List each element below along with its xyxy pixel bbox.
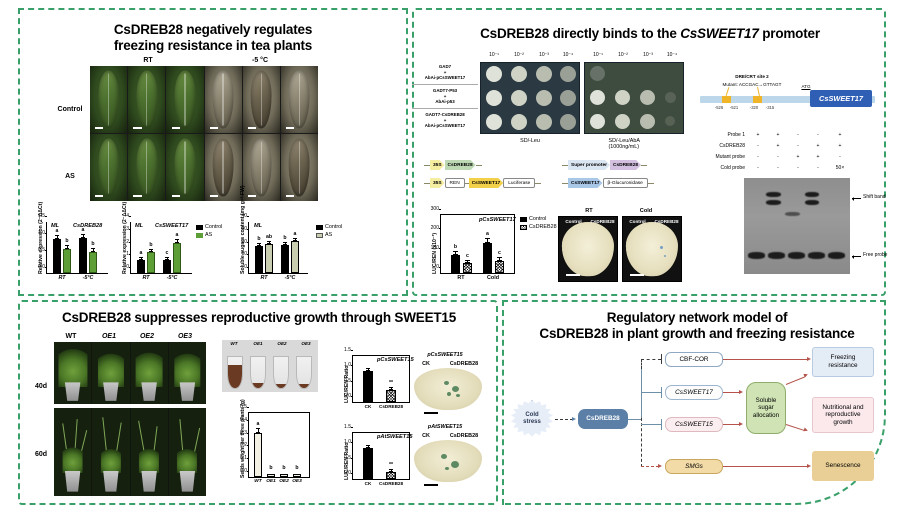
construct-promoter-35s: 35S [430, 178, 445, 188]
inhibition-bar-sweet15 [661, 419, 662, 430]
leaf-photo [205, 134, 242, 201]
photo-row-label-as: AS [52, 172, 88, 181]
error-bar [93, 248, 94, 252]
error-bar [151, 249, 152, 252]
emsa-value: - [817, 165, 819, 171]
seed-xtick: OE3 [292, 479, 302, 484]
legend-label: Control [205, 224, 222, 230]
emsa-value: - [817, 132, 819, 138]
leaf-photo [243, 134, 280, 201]
plant-col-label-oe3: OE3 [170, 332, 200, 341]
seed-xtick: OE2 [279, 479, 289, 484]
emsa-assay: Probe 1 + + - - + CsDREB28 - + - + + Mut… [748, 132, 853, 277]
error-bar [368, 368, 369, 371]
leaf-photo [90, 66, 127, 133]
plant-photo [54, 408, 91, 496]
promoter-leader [726, 87, 730, 96]
bar [363, 371, 373, 402]
yeast-one-hybrid-assay: 10⁻¹ 10⁻² 10⁻³ 10⁻⁴ 10⁻¹ 10⁻² 10⁻³ 10⁻⁴ … [480, 62, 685, 152]
legend-entry: AS [316, 232, 342, 238]
seed-ytick: 0.0 [240, 468, 247, 474]
p3luc1-annotation: pCsSWEET15 [377, 357, 414, 363]
construct-reporter-right: CsSWEET17 β-Glucuronidase [562, 178, 654, 188]
emsa-band-shift [785, 212, 800, 216]
node-cssweet17: CsSWEET17 [665, 385, 723, 400]
tube-label: OE2 [270, 341, 294, 346]
plant-photo [92, 408, 129, 496]
chart-relative-expression-csdreb28: Relative expression (2⁻ΔΔCt) 0.0 0.5 1.0… [46, 222, 108, 274]
chart-luc-ren-cssweet17: LUC/REN (x10⁻³) 0 100 200 300 pCsSWEET17… [440, 214, 515, 274]
y1h-row-label-p53: GADT7-P53 + AbAi-p53 [413, 88, 477, 105]
sig-label: ab [266, 234, 272, 240]
leaf-photo [205, 66, 242, 133]
y1h-colony [486, 90, 502, 106]
bar [495, 261, 504, 273]
construct-promoter-35s: 35S [430, 160, 445, 170]
y1h-dilution-label: 10⁻³ [539, 52, 549, 58]
emsa-value: 50× [836, 165, 844, 171]
emsa-row-label: Cold probe [721, 165, 745, 171]
plant-row-label-60d: 60d [30, 450, 52, 459]
luc-chart-legend: Control CsDREB28 [520, 216, 557, 232]
luc-chart-plot: 0 100 200 300 pCsSWEET17 b c a c RT Cold [440, 214, 515, 274]
emsa-value: + [777, 143, 780, 149]
y1h-colony [665, 116, 675, 126]
bar [280, 474, 288, 477]
emsa-value: + [817, 143, 820, 149]
error-bar [259, 243, 260, 246]
node-cold-stress: Cold stress [510, 400, 554, 438]
bar [173, 243, 181, 273]
emsa-value: + [839, 143, 842, 149]
y1h-colony [486, 66, 502, 82]
panel-3-title: CsDREB28 suppresses reproductive growth … [44, 310, 474, 326]
y1h-colony [560, 66, 576, 82]
node-smgs-label: SMGs [685, 463, 703, 471]
gus-half-label: Control [559, 217, 588, 226]
error-bar [391, 387, 392, 390]
panel-1-title-line1: CsDREB28 negatively regulates [88, 22, 338, 38]
leaf-photo [166, 134, 203, 201]
arrowhead [803, 427, 808, 432]
panel-4-title-line2: CsDREB28 in plant growth and freezing re… [512, 326, 882, 342]
chart3-xtick: RT [260, 275, 267, 281]
chart-relative-expression-cssweet17: Relative expression (2⁻ΔΔCt) 0 1 2 3 4 M… [130, 222, 192, 274]
arrowhead [803, 372, 808, 377]
plant-photo [92, 342, 129, 404]
gus-half-csdreb28 [652, 217, 681, 281]
y1h-dilution-label: 10⁻⁴ [563, 52, 573, 58]
node-csdreb28-label: CsDREB28 [586, 415, 619, 423]
y1h-dilution-label: 10⁻¹ [593, 52, 603, 58]
plant-photo [169, 342, 206, 404]
sig-label: b [283, 235, 286, 241]
emsa-value: + [797, 154, 800, 160]
emsa-row-label: CsDREB28 [719, 143, 745, 149]
panel-1-title-line2: freezing resistance in tea plants [88, 38, 338, 54]
y1h-colony [511, 90, 527, 106]
emsa-value: - [839, 154, 841, 160]
y1h-dilution-label: 10⁻³ [643, 52, 653, 58]
error-bar [67, 245, 68, 249]
seed-ytick: 0.4 [240, 417, 247, 423]
gus-half-label: Control [623, 217, 652, 226]
edge-sugar-to-growth [786, 424, 805, 431]
node-sugar-label: Soluble sugar allocation [753, 397, 779, 420]
error-bar [83, 234, 84, 238]
emsa-band-free [828, 252, 845, 259]
y1h-row-bottom: AbAi-pCsSWEET17 [413, 123, 477, 129]
seed-ytick: 0.5 [240, 404, 247, 410]
bar [483, 243, 492, 274]
chart-luc-ren-patsweet15: LUC/REN Ratio 0.0 0.5 1.0 1.5 pAtSWEET15… [352, 432, 410, 480]
emsa-value: - [777, 154, 779, 160]
emsa-row-label: Mutant probe [716, 154, 745, 160]
y1h-colony [536, 66, 552, 82]
regulatory-network-diagram: Cold stress CsDREB28 CBF-COR CsSWEET17 C [510, 352, 880, 492]
error-bar [167, 257, 168, 260]
edge-to-cssweet15 [641, 424, 661, 425]
leaf-photo [281, 134, 318, 201]
emsa-value: - [797, 143, 799, 149]
promoter-site-label: DRE/CRT site 2 [712, 74, 792, 79]
node-cbf-cor: CBF-COR [665, 352, 723, 367]
gus-group-label-rt: RT [585, 208, 592, 214]
bar [255, 246, 263, 273]
chart3-plot: 0 10 20 30 40 ML b ab b a RT -5°C [248, 222, 308, 274]
arrowhead [807, 357, 811, 361]
luc-ytick: 200 [431, 225, 439, 231]
luc-ytick: 100 [431, 245, 439, 251]
panel-2-title-gene: CsSWEET17 [680, 26, 758, 41]
emsa-band-free [768, 252, 785, 259]
node-freezing-label: Freezing resistance [828, 354, 857, 369]
seed-ytick: 0.2 [240, 442, 247, 448]
legend-entry: CsDREB28 [520, 224, 557, 230]
sig-label: b [65, 238, 68, 244]
error-bar [57, 235, 58, 239]
legend-label: CsDREB28 [529, 224, 557, 230]
chart1-xtick: -5°C [83, 275, 94, 281]
leaf-photo [166, 66, 203, 133]
leaf-photo [128, 66, 165, 133]
legend-label: Control [529, 216, 546, 222]
gus-half-label: CsDREB28 [588, 217, 617, 226]
bar [163, 260, 171, 273]
emsa-pointer-shift [852, 198, 861, 199]
chart3-ytick: 20 [241, 239, 247, 245]
y1h-colony [536, 114, 552, 130]
legend-label: AS [205, 232, 212, 238]
emsa-value: - [757, 154, 759, 160]
error-bar [269, 241, 270, 244]
y1h-plate-caption-left: SD/-Leu [520, 138, 540, 144]
node-cssweet17-label: CsSWEET17 [675, 389, 713, 397]
promoter-site-box [722, 96, 731, 103]
construct-promoter-cssweet17: CsSWEET17 [469, 178, 504, 188]
sig-label: b [454, 244, 457, 250]
seed-tube [296, 356, 312, 389]
photo-row-label-control: Control [52, 105, 88, 114]
chart3-ytick: 10 [241, 251, 247, 257]
luc-ytick: 0 [436, 264, 439, 270]
promoter-leader [757, 87, 760, 96]
construct-reporter-left: 35S REN CsSWEET17 Luciferase [424, 178, 541, 188]
y1h-dilution-label: 10⁻² [514, 52, 524, 58]
p3luc2-ytick: 0.5 [344, 455, 351, 461]
y1h-dilution-label: 10⁻¹ [489, 52, 499, 58]
promoter-atg-label: ATG [796, 84, 816, 89]
construct-luciferase: Luciferase [503, 178, 535, 188]
edge-tf-vertical [641, 368, 642, 419]
sig-label: c [498, 250, 501, 256]
legend-swatch-as [196, 233, 203, 238]
sig-label: a [486, 231, 489, 237]
gus-leaf-patsweet15 [414, 440, 482, 482]
chart3-ytick: 40 [241, 213, 247, 219]
bar [63, 249, 71, 273]
panel-2-title: CsDREB28 directly binds to the CsSWEET17… [440, 26, 860, 42]
chart1-group-label: CsDREB28 [73, 223, 102, 229]
promoter-position: -521 [730, 105, 738, 110]
gus-half-csdreb28 [588, 217, 617, 281]
plant-photo [131, 408, 168, 496]
p3luc1-xtick: CsDREB28 [379, 404, 403, 409]
seed-chart-ylabel: Seeds weight per three plants (g) [240, 399, 246, 478]
construct-gus: β-Glucuronidase [603, 178, 648, 188]
y1h-colony [590, 114, 605, 129]
p3luc1-ytick: 0.0 [344, 393, 351, 399]
luc-xtick: RT [457, 275, 464, 281]
edge-to-cssweet17 [641, 392, 661, 393]
leaf-photo-grid [90, 66, 318, 201]
chart2-xtick: RT [142, 275, 149, 281]
sig-label: ** [389, 462, 393, 468]
sig-label: b [149, 242, 152, 248]
seed-tubes-labels: WT OE1 OE2 OE3 [222, 341, 318, 346]
bar [79, 238, 87, 273]
legend-entry: Control [196, 224, 222, 230]
arrowhead [807, 464, 811, 468]
sig-label: a [294, 231, 297, 237]
graphical-abstract: CsDREB28 negatively regulates freezing r… [0, 0, 900, 513]
promoter-schematic: DRE/CRT site 2 Mutant: ACCGAC→GTTAGT ATG… [700, 78, 875, 118]
legend-swatch-control [520, 217, 527, 222]
emsa-gel-image [744, 178, 850, 274]
node-soluble-sugar-allocation: Soluble sugar allocation [746, 382, 786, 434]
construct-gene-csdreb28: CsDREB28 [610, 160, 641, 170]
sig-label: a [140, 250, 143, 256]
error-bar [487, 238, 488, 243]
node-cold-stress-label: Cold stress [523, 412, 541, 426]
edge-tf-vertical-dash-down [641, 418, 642, 467]
gus-label-patsweet15: pAtSWEET15 [428, 424, 462, 430]
chart2-ytick: 4 [126, 213, 129, 219]
bar [254, 433, 262, 477]
node-growth-label: Nutritional and reproductive growth [822, 404, 863, 427]
p3luc1-ytick: 1.5 [344, 347, 351, 353]
plant-photos-60d [54, 408, 206, 496]
y1h-colony [590, 90, 605, 105]
bar [281, 245, 289, 273]
arrowhead [739, 390, 743, 394]
sig-label: b [269, 465, 272, 471]
emsa-annotation-free: Free probe [863, 252, 887, 258]
edge-sweet15-to-sugar [723, 424, 740, 425]
chart-soluble-sugars: Soluble sugars content (mg g⁻¹ FW) 0 10 … [248, 222, 308, 274]
node-senescence: Senescence [812, 451, 874, 481]
bar [265, 244, 273, 273]
panel-4-title-line1: Regulatory network model of [512, 310, 882, 326]
emsa-pointer-free [852, 256, 861, 257]
y1h-colony [615, 90, 630, 105]
luc-xtick: Cold [487, 275, 499, 281]
legend-entry: AS [196, 232, 222, 238]
plant-photo [169, 408, 206, 496]
construct-ren: REN [445, 178, 465, 188]
error-bar [455, 251, 456, 255]
chart2-ytick: 2 [126, 239, 129, 245]
legend-entry: Control [316, 224, 342, 230]
edge-to-smgs [641, 466, 659, 467]
seed-tube [250, 356, 266, 389]
luc-chart-annotation: pCsSWEET17 [479, 217, 516, 223]
chart1-ytick: 0.0 [38, 264, 45, 270]
seed-ytick: 0.3 [240, 430, 247, 436]
promoter-site-box [753, 96, 762, 103]
bar [137, 260, 145, 273]
luc-ytick: 300 [431, 206, 439, 212]
emsa-value: - [797, 132, 799, 138]
p3luc2-annotation: pAtSWEET15 [377, 434, 412, 440]
y1h-row-label-csdreb28: GADT7-CsDREB28 + AbAi-pCsSWEET17 [413, 112, 477, 129]
error-bar [295, 238, 296, 241]
panel-2-title-pre: CsDREB28 directly binds to the [480, 26, 680, 41]
gus-leaf-cold: Control CsDREB28 [622, 216, 682, 282]
chart2-ytick: 3 [126, 226, 129, 232]
scale-bar [424, 412, 438, 414]
photo-col-label-freeze: -5 °C [240, 56, 280, 65]
bar [293, 474, 301, 477]
seed-xtick: OE1 [266, 479, 276, 484]
node-cssweet15-label: CsSWEET15 [675, 421, 713, 429]
emsa-value: + [839, 132, 842, 138]
emsa-value: - [797, 165, 799, 171]
p3luc2-ytick: 1.0 [344, 439, 351, 445]
edge-sugar-to-freezing [786, 377, 805, 385]
y1h-colony [486, 114, 502, 130]
emsa-band-shift [805, 192, 819, 197]
bar [89, 252, 97, 273]
construct-super-promoter: Super promoter [568, 160, 610, 170]
emsa-value: + [757, 132, 760, 138]
emsa-band-shift [766, 200, 781, 205]
y1h-colony [665, 92, 676, 103]
bar [463, 263, 472, 273]
plant-col-label-oe2: OE2 [132, 332, 162, 341]
promoter-position: -315 [766, 105, 774, 110]
chart2-ytick: 1 [126, 251, 129, 257]
promoter-gene-box: CsSWEET17 [810, 90, 872, 107]
plant-col-label-wt: WT [56, 332, 86, 341]
chart2-group-label: ML [135, 223, 143, 229]
legend-swatch-control [196, 225, 203, 230]
emsa-value: - [757, 143, 759, 149]
node-cbf-cor-label: CBF-COR [679, 356, 708, 364]
error-bar [285, 242, 286, 245]
bar [363, 448, 373, 479]
y1h-colony [560, 114, 576, 130]
error-bar [391, 469, 392, 472]
arrowhead [658, 464, 662, 468]
legend-entry: Control [520, 216, 557, 222]
bar [386, 472, 396, 479]
edge-cbf-to-freezing [723, 359, 808, 360]
y1h-row-bottom: AbAi-pCsSWEET17 [413, 75, 477, 81]
emsa-annotation-shift: Shift band [863, 194, 886, 200]
bar [53, 239, 61, 273]
bar [147, 252, 155, 273]
gus-half-label-ck: CK [422, 361, 430, 367]
inhibition-bar-sweet17 [661, 387, 662, 398]
chart3-ytick: 30 [241, 226, 247, 232]
seed-tubes-photo: WT OE1 OE2 OE3 [222, 340, 318, 392]
gus-half-label: CsDREB28 [652, 217, 681, 226]
chart1-plot: 0.0 0.5 1.0 1.5 ML CsDREB28 a b a b RT -… [46, 222, 108, 274]
p3luc1-ytick: 0.5 [344, 378, 351, 384]
error-bar [467, 260, 468, 263]
chart1-xtick: RT [58, 275, 65, 281]
emsa-band-free [808, 252, 825, 259]
y1h-dilution-label: 10⁻⁴ [667, 52, 677, 58]
node-senescence-label: Senescence [825, 462, 860, 470]
bar [291, 241, 299, 273]
emsa-row-label: Probe 1 [727, 132, 745, 138]
panel-1-title: CsDREB28 negatively regulates freezing r… [88, 22, 338, 54]
gus-leaf-rt: Control CsDREB28 [558, 216, 618, 282]
p3luc2-ytick: 1.5 [344, 424, 351, 430]
chart1-ytick: 1.0 [38, 230, 45, 236]
gus-leaf-pcssweet15 [414, 368, 482, 410]
chart-seed-weight: Seeds weight per three plants (g) 0.0 0.… [248, 412, 310, 478]
arrowhead [572, 417, 576, 421]
bar [267, 474, 275, 477]
emsa-band-shift [805, 200, 819, 205]
construct-promoter-cssweet17: CsSWEET17 [568, 178, 603, 188]
chart1-ytick: 1.5 [38, 213, 45, 219]
scale-bar [424, 484, 438, 486]
sig-label: b [282, 465, 285, 471]
gus-half-label-csdreb28: CsDREB28 [450, 433, 478, 439]
emsa-band-shift [766, 192, 781, 197]
y1h-colony [536, 90, 552, 106]
p3luc1-xtick: CK [365, 404, 372, 409]
seed-ytick: 0.1 [240, 455, 247, 461]
sig-label: b [91, 241, 94, 247]
seed-tube [227, 356, 243, 389]
error-bar [258, 428, 259, 433]
panel-2-title-post: promoter [759, 26, 820, 41]
p3luc2-plot: 0.0 0.5 1.0 1.5 pAtSWEET15 ** CK CsDREB2… [352, 432, 410, 480]
emsa-value: - [757, 165, 759, 171]
gus-half-label-ck: CK [422, 433, 430, 439]
plant-photos-40d [54, 342, 206, 404]
plant-photo [131, 342, 168, 404]
edge-tf-vertical-dash-up [641, 359, 642, 369]
inhibition-bar-cbf [661, 354, 662, 364]
seed-chart-plot: 0.0 0.1 0.2 0.3 0.4 0.5 a b b b WT OE1 O… [248, 412, 310, 478]
p3luc2-ytick: 0.0 [344, 470, 351, 476]
